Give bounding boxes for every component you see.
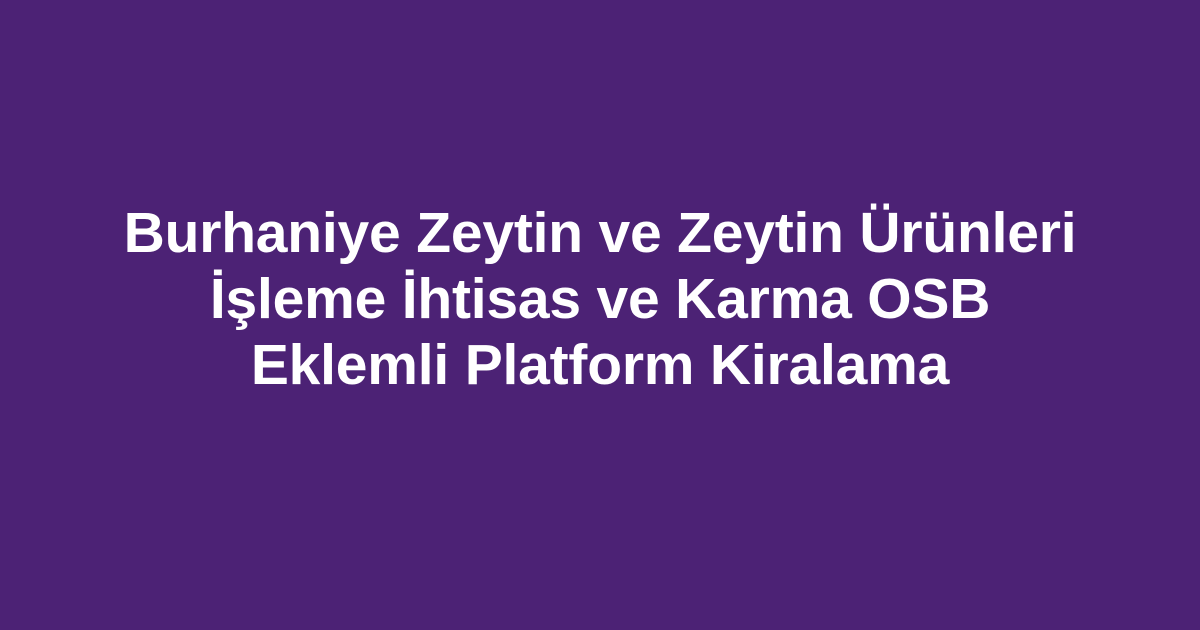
- page-title: Burhaniye Zeytin ve Zeytin Ürünleri İşle…: [108, 200, 1092, 398]
- social-share-card: Burhaniye Zeytin ve Zeytin Ürünleri İşle…: [0, 0, 1200, 630]
- title-block: Burhaniye Zeytin ve Zeytin Ürünleri İşle…: [100, 200, 1100, 398]
